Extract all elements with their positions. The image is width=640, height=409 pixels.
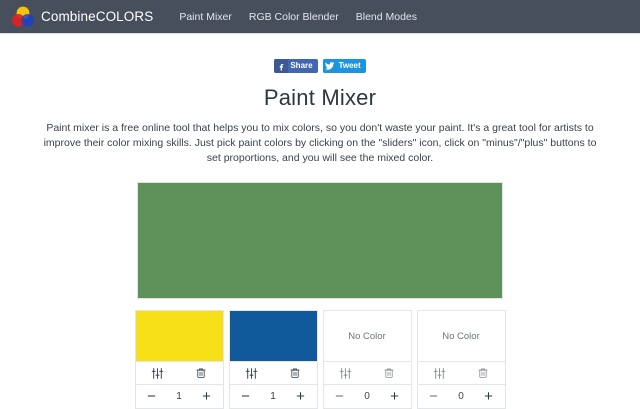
page-description: Paint mixer is a free online tool that h… [42, 121, 598, 166]
top-navbar: CombineCOLORS Paint Mixer RGB Color Blen… [0, 0, 640, 34]
paint-card-swatch[interactable] [136, 311, 223, 361]
nav-item-rgb-color-blender[interactable]: RGB Color Blender [249, 11, 339, 23]
facebook-share-label: Share [288, 59, 317, 73]
paint-card-stepper: − 0 + [418, 384, 505, 408]
paint-card: No Color − 0 + [417, 310, 506, 409]
twitter-bird-icon [323, 59, 337, 73]
paint-card-tools [418, 361, 505, 384]
paint-card: − 1 + [135, 310, 224, 409]
nav-links: Paint Mixer RGB Color Blender Blend Mode… [179, 11, 417, 23]
trash-icon[interactable] [188, 363, 214, 383]
paint-card-stepper: − 1 + [136, 384, 223, 408]
sliders-icon[interactable] [144, 363, 170, 383]
trash-icon[interactable] [376, 363, 402, 383]
increment-button[interactable]: + [481, 389, 497, 404]
increment-button[interactable]: + [199, 389, 215, 404]
paint-card-tools [230, 361, 317, 384]
trash-icon[interactable] [282, 363, 308, 383]
paint-card-tools [324, 361, 411, 384]
brand-home-link[interactable]: CombineCOLORS [11, 5, 153, 29]
proportion-value: 1 [270, 391, 276, 402]
facebook-icon [274, 59, 288, 73]
paint-card-swatch[interactable]: No Color [418, 311, 505, 361]
twitter-tweet-button[interactable]: Tweet [323, 59, 366, 73]
proportion-value: 1 [176, 391, 182, 402]
decrement-button[interactable]: − [426, 389, 442, 404]
paint-card-swatch[interactable]: No Color [324, 311, 411, 361]
paint-card-tools [136, 361, 223, 384]
paint-card-swatch[interactable] [230, 311, 317, 361]
paint-card-stepper: − 1 + [230, 384, 317, 408]
nav-item-blend-modes[interactable]: Blend Modes [356, 11, 417, 23]
decrement-button[interactable]: − [238, 389, 254, 404]
page-title: Paint Mixer [0, 85, 640, 111]
mixed-color-result-wrap [0, 182, 640, 299]
mixed-color-swatch [137, 182, 503, 299]
paint-card: No Color − 0 + [323, 310, 412, 409]
increment-button[interactable]: + [387, 389, 403, 404]
color-circles-logo-icon [11, 5, 35, 29]
proportion-value: 0 [364, 391, 370, 402]
sliders-icon[interactable] [332, 363, 358, 383]
paint-card: − 1 + [229, 310, 318, 409]
social-share-row: Share Tweet [0, 59, 640, 73]
paint-card-stepper: − 0 + [324, 384, 411, 408]
twitter-tweet-label: Tweet [337, 59, 366, 73]
trash-icon[interactable] [470, 363, 496, 383]
facebook-share-button[interactable]: Share [274, 59, 317, 73]
sliders-icon[interactable] [238, 363, 264, 383]
proportion-value: 0 [458, 391, 464, 402]
increment-button[interactable]: + [293, 389, 309, 404]
nav-item-paint-mixer[interactable]: Paint Mixer [179, 11, 232, 23]
brand-name: CombineCOLORS [41, 9, 153, 24]
decrement-button[interactable]: − [332, 389, 348, 404]
paint-color-cards: − 1 + − 1 + [0, 310, 640, 409]
decrement-button[interactable]: − [144, 389, 160, 404]
sliders-icon[interactable] [426, 363, 452, 383]
